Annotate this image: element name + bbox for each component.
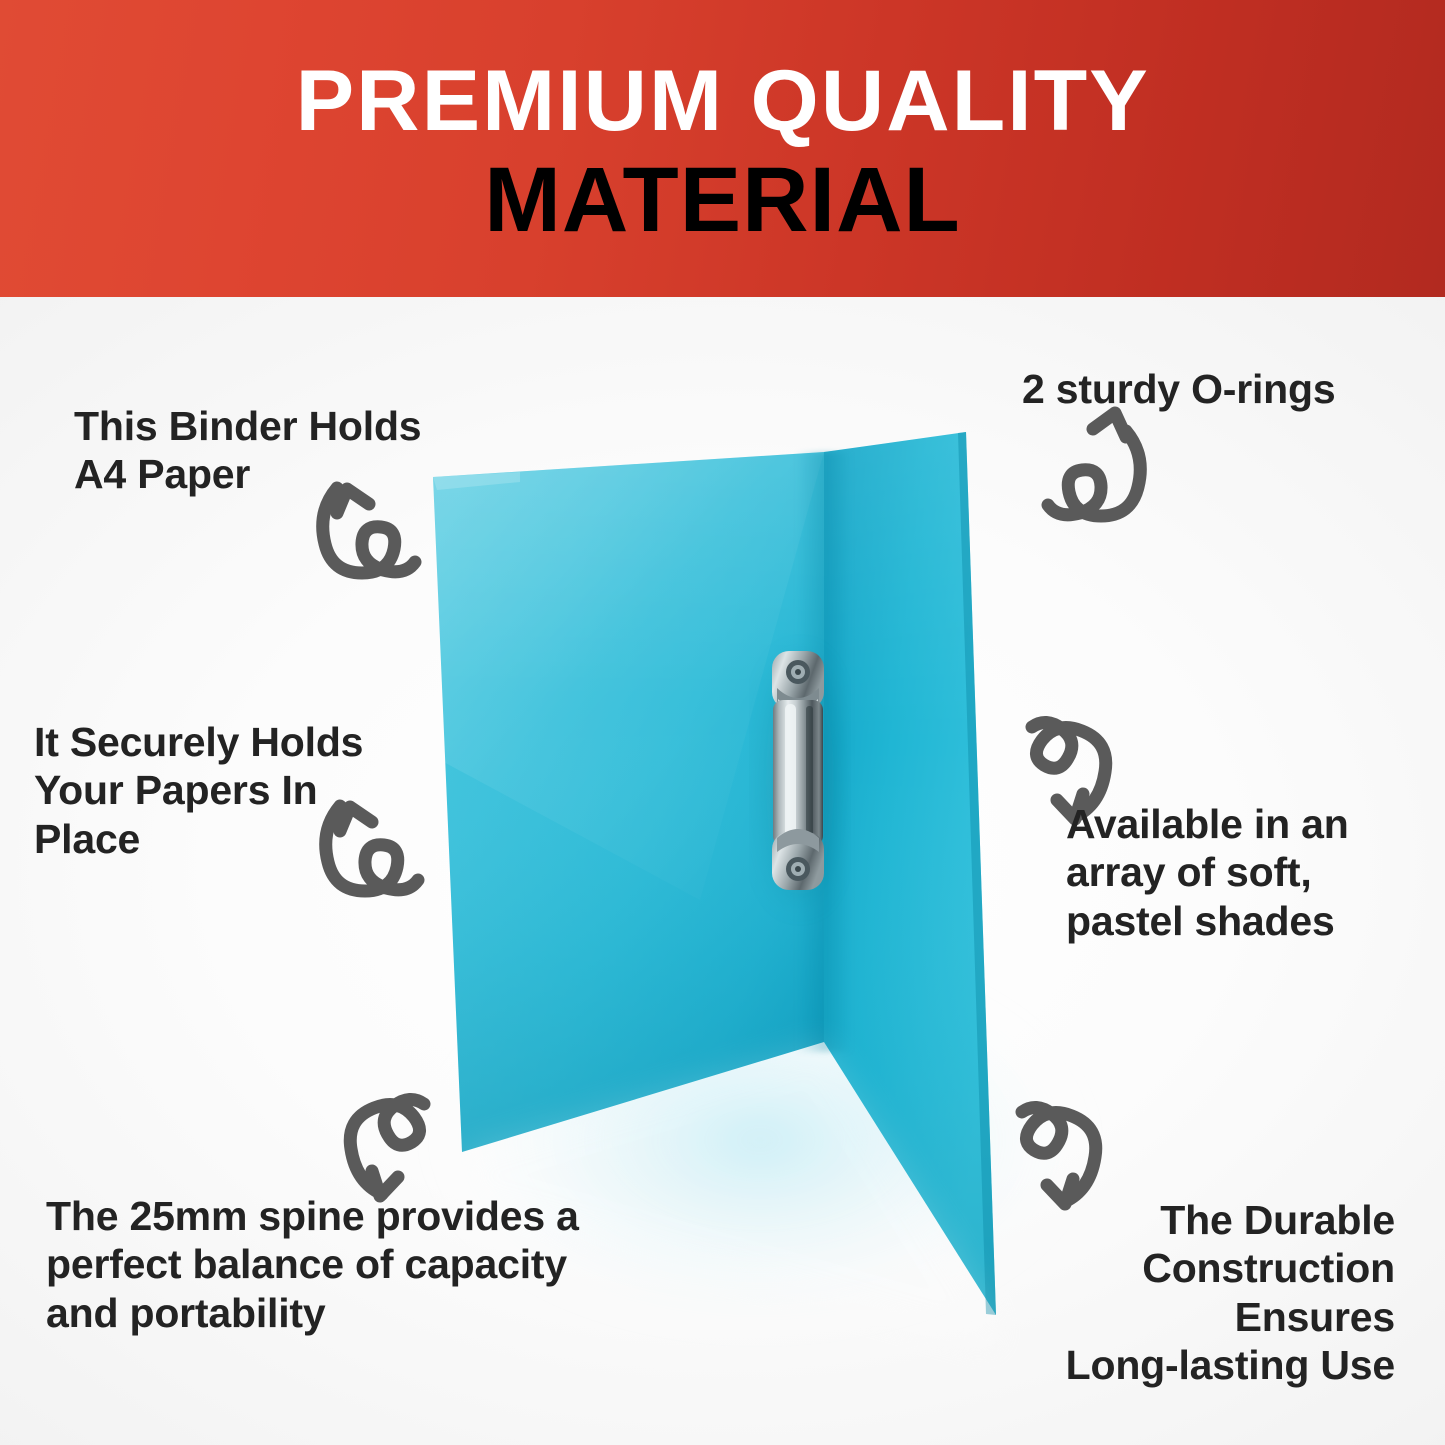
callout-o-rings: 2 sturdy O-rings (1022, 365, 1422, 413)
binder-right-cover (824, 432, 996, 1315)
arrow-doodle-o-rings (1048, 413, 1140, 516)
arrow-doodle-a4-paper (323, 488, 415, 573)
header-banner: PREMIUM QUALITY MATERIAL (0, 0, 1445, 297)
binder-spine-fold (796, 452, 852, 1052)
binder-ring-mechanism (766, 651, 834, 900)
header-title-primary: PREMIUM QUALITY (295, 58, 1149, 144)
arrow-doodle-spine (350, 1099, 424, 1196)
callout-pastel-shades: Available in an array of soft, pastel sh… (1066, 800, 1426, 945)
binder-left-cover (433, 452, 824, 1152)
infographic-page: PREMIUM QUALITY MATERIAL (0, 0, 1445, 1445)
callout-spine: The 25mm spine provides a perfect balanc… (46, 1192, 726, 1337)
callout-secure-hold: It Securely Holds Your Papers In Place (34, 718, 474, 863)
arrow-doodle-durable (1022, 1107, 1096, 1204)
callout-a4-paper: This Binder Holds A4 Paper (74, 402, 534, 499)
ring-spine-bar (773, 700, 823, 846)
o-ring-bottom (772, 829, 824, 890)
callout-durable: The Durable Construction Ensures Long-la… (955, 1196, 1395, 1390)
o-ring-top (772, 651, 824, 714)
header-title-secondary: MATERIAL (484, 154, 960, 246)
